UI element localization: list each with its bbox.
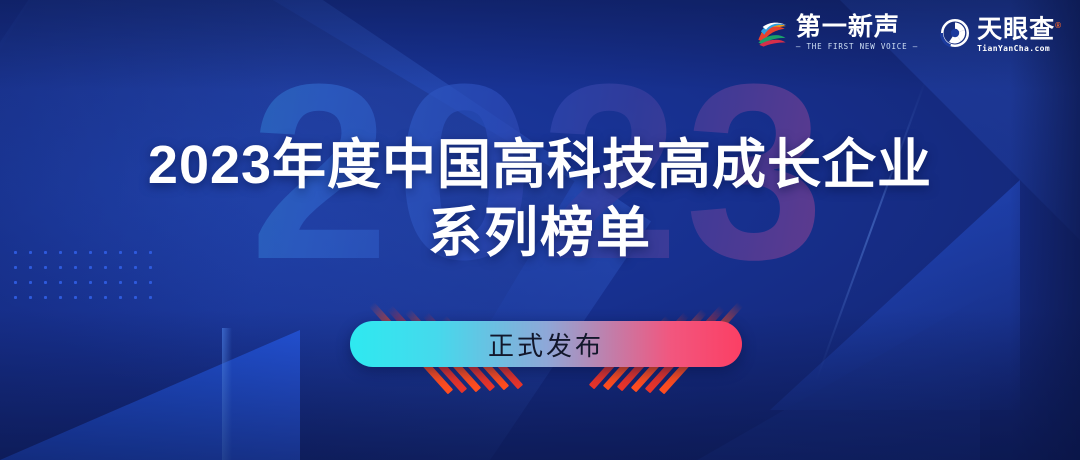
title-line-1: 2023年度中国高科技高成长企业 — [0, 134, 1080, 196]
logo-tianyancha-cn: 天眼查® — [977, 12, 1062, 43]
triangle-bottom-left — [0, 330, 300, 460]
release-status-label: 正式发布 — [488, 326, 604, 363]
promo-banner: 2023 2023年度中国高科技高成长企业 系列榜单 正式发布 — [0, 0, 1080, 460]
logo-tianyancha[interactable]: 天眼查® TianYanCha.com — [940, 12, 1062, 54]
logo-group: 第一新声 — THE FIRST NEW VOICE — 天眼查® TianYa… — [755, 12, 1062, 54]
swirl-logo-icon — [755, 16, 789, 50]
aperture-eye-icon — [940, 18, 970, 48]
logo-diyixinsheng-cn: 第一新声 — [796, 14, 918, 41]
logo-tianyancha-cn-text: 天眼查 — [977, 15, 1055, 43]
logo-diyixinsheng-en: — THE FIRST NEW VOICE — — [796, 41, 918, 52]
logo-tianyancha-text: 天眼查® TianYanCha.com — [977, 12, 1062, 54]
trademark-icon: ® — [1055, 21, 1062, 30]
release-status-badge[interactable]: 正式发布 — [350, 321, 742, 367]
logo-diyixinsheng[interactable]: 第一新声 — THE FIRST NEW VOICE — — [755, 14, 918, 52]
logo-diyixinsheng-text: 第一新声 — THE FIRST NEW VOICE — — [796, 14, 918, 52]
page-title: 2023年度中国高科技高成长企业 系列榜单 — [0, 134, 1080, 264]
title-line-2: 系列榜单 — [0, 202, 1080, 264]
triangle-bottom-left-highlight — [222, 328, 232, 460]
logo-tianyancha-en: TianYanCha.com — [977, 43, 1062, 54]
